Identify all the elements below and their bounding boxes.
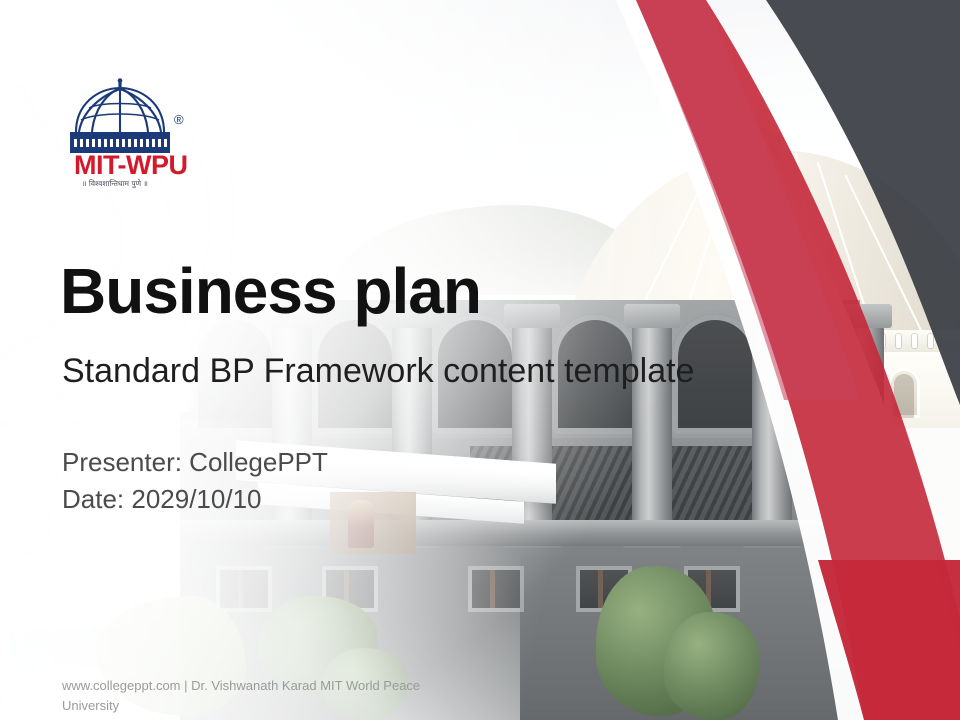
slide-meta: Presenter: CollegePPT Date: 2029/10/10 xyxy=(62,444,328,518)
date-line: Date: 2029/10/10 xyxy=(62,481,328,518)
slide-title: Business plan xyxy=(60,258,481,325)
logo-wordmark: MIT-WPU xyxy=(74,150,187,180)
presentation-title-slide: ® MIT-WPU ॥ विश्वशान्तिधाम पुणे ॥ Busine… xyxy=(0,0,960,720)
presenter-line: Presenter: CollegePPT xyxy=(62,444,328,481)
dome-icon xyxy=(76,88,164,132)
registered-trademark-icon: ® xyxy=(174,112,184,127)
slide-subtitle: Standard BP Framework content template xyxy=(62,351,694,392)
mit-wpu-logo: ® MIT-WPU ॥ विश्वशान्तिधाम पुणे ॥ xyxy=(62,78,194,190)
logo-tagline: ॥ विश्वशान्तिधाम पुणे ॥ xyxy=(82,179,148,189)
slide-footer: www.collegeppt.com | Dr. Vishwanath Kara… xyxy=(62,676,462,716)
